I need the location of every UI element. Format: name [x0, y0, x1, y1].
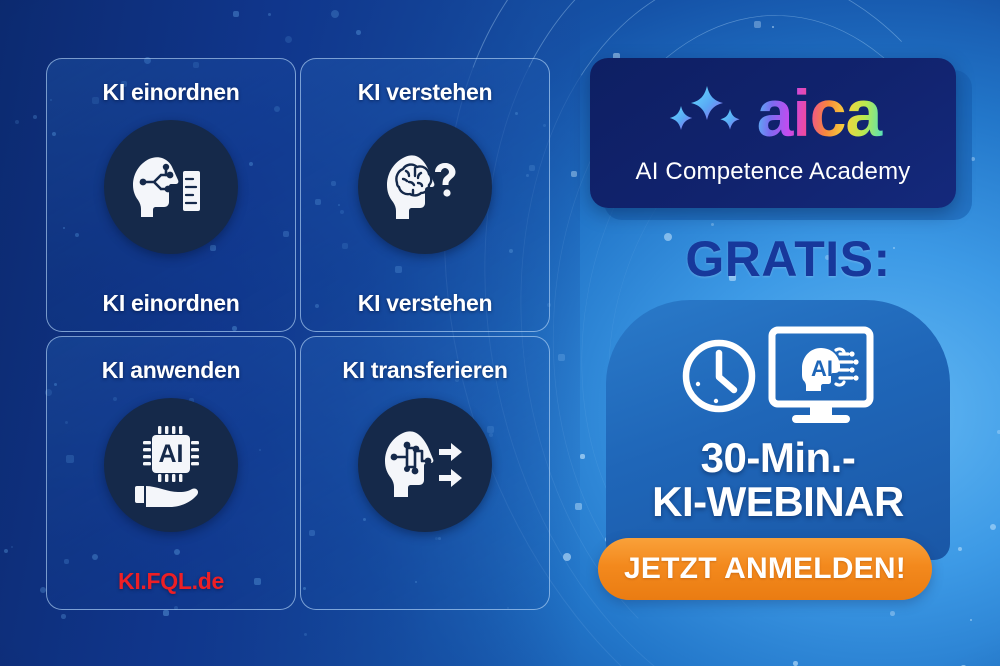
card-ki-verstehen[interactable]: KI verstehen KI verstehen — [300, 58, 550, 332]
competence-card-grid: KI einordnen — [44, 56, 552, 612]
card-ki-transferieren[interactable]: KI transferieren — [300, 336, 550, 610]
webinar-title-line: KI-WEBINAR — [652, 480, 904, 524]
card-footer-label: KI einordnen — [47, 290, 295, 317]
jetzt-anmelden-button[interactable]: JETZT ANMELDEN! — [598, 538, 932, 600]
promo-column: aica AI Competence Academy GRATIS: — [576, 0, 1000, 666]
card-title: KI transferieren — [342, 357, 507, 384]
card-ki-einordnen[interactable]: KI einordnen — [46, 58, 296, 332]
sparkle-stars-icon — [663, 78, 749, 155]
webinar-panel: AI 30-Min.- KI-WEBINAR — [606, 300, 950, 560]
aica-wordmark: aica — [755, 80, 883, 152]
cta-label: JETZT ANMELDEN! — [624, 552, 906, 586]
card-title: KI anwenden — [102, 357, 241, 384]
webinar-duration-line: 30-Min.- — [652, 436, 904, 480]
clock-icon — [676, 333, 762, 424]
card-footer-label: KI.FQL.de — [47, 568, 295, 595]
head-circuit-arrows-icon — [358, 398, 492, 532]
card-title: KI einordnen — [103, 79, 240, 106]
card-footer-label: KI verstehen — [301, 290, 549, 317]
webinar-text-block: 30-Min.- KI-WEBINAR — [652, 436, 904, 523]
svg-text:AI: AI — [811, 356, 833, 381]
svg-text:AI: AI — [159, 440, 184, 468]
head-brain-question-mark-icon — [358, 120, 492, 254]
head-circuit-brain-ruler-icon — [104, 120, 238, 254]
logo-tagline: AI Competence Academy — [635, 158, 910, 186]
hand-holding-ai-chip-icon: AI — [104, 398, 238, 532]
logo-row: aica — [663, 80, 883, 152]
monitor-ai-head-icon: AI — [762, 324, 880, 433]
gratis-heading: GRATIS: — [576, 230, 1000, 288]
card-ki-anwenden[interactable]: KI anwenden — [46, 336, 296, 610]
aica-logo-panel: aica AI Competence Academy — [590, 58, 956, 208]
webinar-icon-row: AI — [676, 326, 880, 430]
card-title: KI verstehen — [358, 79, 492, 106]
